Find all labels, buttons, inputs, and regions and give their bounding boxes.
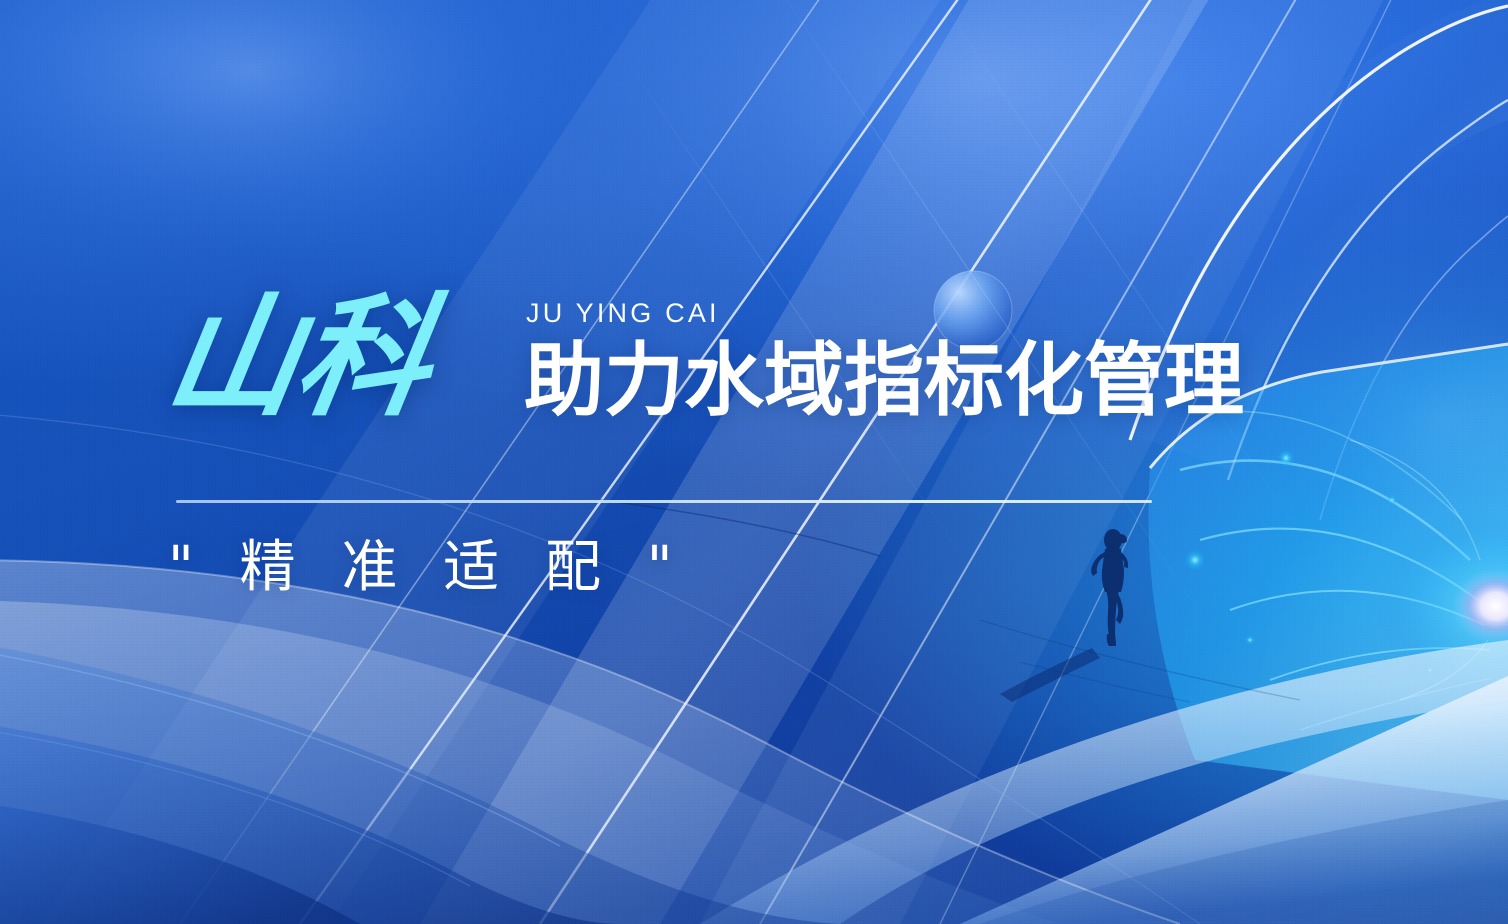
headline-block: JU YING CAI 助力水域指标化管理: [524, 300, 1244, 421]
running-person-icon: [1078, 528, 1148, 656]
brand-pinyin: JU YING CAI: [526, 300, 1244, 327]
divider: [176, 500, 1152, 503]
page-title: 助力水域指标化管理: [524, 341, 1244, 421]
tagline: " 精 准 适 配 ": [168, 537, 687, 599]
brand-name-cn: 山科: [158, 296, 438, 420]
promotional-banner: 山科 JU YING CAI 助力水域指标化管理 " 精 准 适 配 ": [0, 0, 1508, 924]
banner-content: 山科 JU YING CAI 助力水域指标化管理 " 精 准 适 配 ": [0, 0, 1508, 924]
brand-lockup: 山科: [168, 296, 428, 420]
